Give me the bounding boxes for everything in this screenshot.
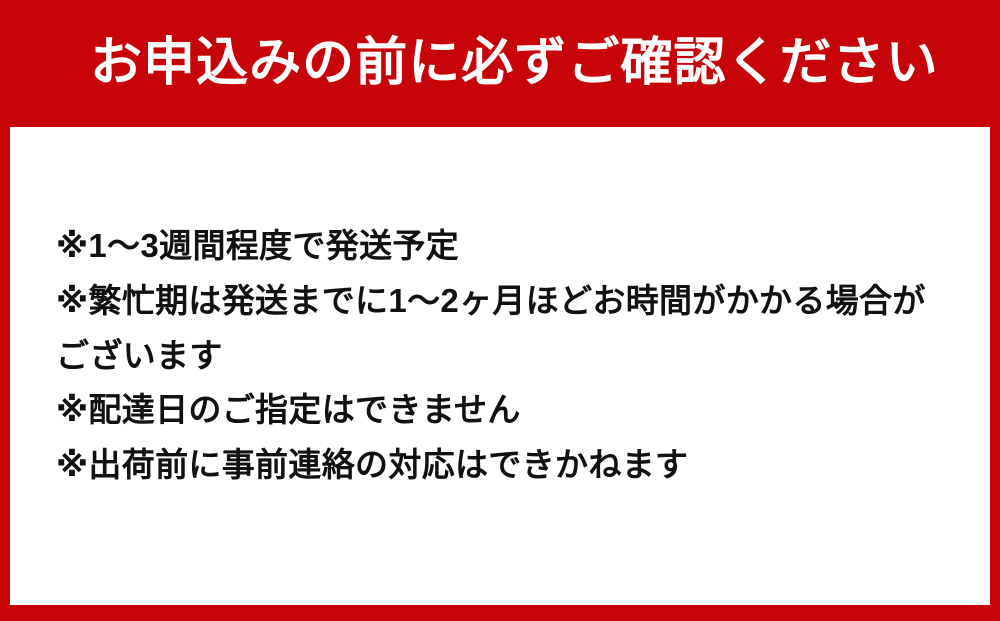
list-item: ※1〜3週間程度で発送予定 [56,219,928,274]
page-title: お申込みの前に必ずご確認ください [90,35,939,92]
list-item: ※配達日のご指定はできません [56,383,928,438]
list-item: ※出荷前に事前連絡の対応はできかねます [56,438,928,493]
list-item: ※繁忙期は発送までに1〜2ヶ月ほどお時間がかかる場合がございます [56,274,928,384]
shipping-notice-banner: お申込みの前に必ずご確認ください ※1〜3週間程度で発送予定 ※繁忙期は発送まで… [0,0,1000,621]
banner-body-panel: ※1〜3週間程度で発送予定 ※繁忙期は発送までに1〜2ヶ月ほどお時間がかかる場合… [10,127,990,605]
notice-list: ※1〜3週間程度で発送予定 ※繁忙期は発送までに1〜2ヶ月ほどお時間がかかる場合… [56,219,928,493]
banner-header: お申込みの前に必ずご確認ください [10,0,990,127]
